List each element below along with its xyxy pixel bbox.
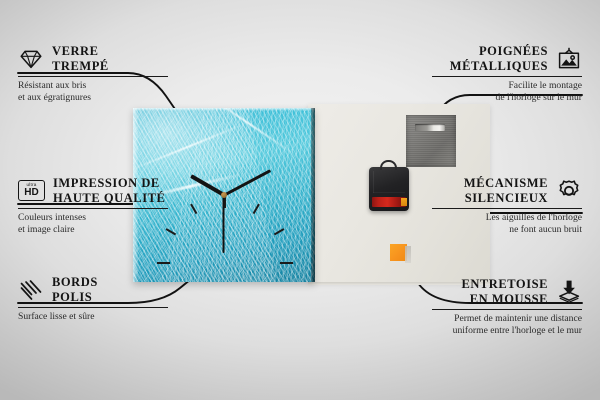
- feature-description: Résistant aux briset aux égratignures: [18, 80, 168, 103]
- feature-title: VERRETREMPÉ: [52, 44, 109, 73]
- feature-description: Surface lisse et sûre: [18, 311, 168, 322]
- feature-bords-polis: BORDSPOLIS Surface lisse et sûre: [18, 275, 168, 323]
- movement-housing-texture: [373, 171, 405, 193]
- title-line-1: POIGNÉES: [479, 44, 548, 58]
- desc-line-1: Couleurs intenses: [18, 212, 86, 223]
- title-line-2: TREMPÉ: [52, 59, 109, 73]
- desc-line-2: uniforme entre l'horloge et le mur: [453, 325, 582, 336]
- feature-mecanisme-silencieux: MÉCANISMESILENCIEUX Les aiguilles de l'h…: [432, 176, 582, 235]
- desc-line-2: et aux égratignures: [18, 92, 91, 103]
- feature-title: POIGNÉESMÉTALLIQUES: [450, 44, 548, 73]
- title-line-2: HAUTE QUALITÉ: [53, 191, 165, 205]
- desc-line-1: Les aiguilles de l'horloge: [486, 212, 582, 223]
- divider: [18, 208, 168, 209]
- feature-verre-trempe: VERRETREMPÉ Résistant aux briset aux égr…: [18, 44, 168, 103]
- infographic-canvas: VERRETREMPÉ Résistant aux briset aux égr…: [0, 0, 600, 400]
- feature-description: Permet de maintenir une distanceuniforme…: [432, 313, 582, 336]
- desc-line-2: et image claire: [18, 224, 74, 235]
- desc-line-2: ne font aucun bruit: [509, 224, 582, 235]
- feature-poignees-metalliques: POIGNÉESMÉTALLIQUES Facilite le montaged…: [432, 44, 582, 103]
- desc-line-1: Résistant aux bris: [18, 80, 86, 91]
- title-line-2: EN MOUSSE: [470, 292, 548, 306]
- title-line-2: MÉTALLIQUES: [450, 59, 548, 73]
- feature-title: MÉCANISMESILENCIEUX: [464, 176, 548, 205]
- divider: [432, 309, 582, 310]
- feature-description: Couleurs intenseset image claire: [18, 212, 168, 235]
- desc-line-1: Permet de maintenir une distance: [454, 313, 582, 324]
- divider: [432, 76, 582, 77]
- title-line-1: BORDS: [52, 275, 98, 289]
- metallic-hanger-plate: [406, 115, 456, 167]
- title-line-2: SILENCIEUX: [465, 191, 548, 205]
- ultra-hd-badge-icon: ultra HD: [18, 180, 45, 201]
- clock-center-hub: [221, 192, 227, 198]
- title-line-1: IMPRESSION DE: [53, 176, 160, 190]
- diamond-icon: [18, 46, 44, 72]
- divider: [18, 307, 168, 308]
- clock-hour-hand: [190, 174, 225, 196]
- desc-line-2: de l'horloge sur le mur: [496, 92, 582, 103]
- hanging-frame-icon: [556, 46, 582, 72]
- title-line-2: POLIS: [52, 290, 92, 304]
- battery: [372, 197, 406, 207]
- badge-main-text: HD: [24, 188, 38, 198]
- feature-entretoise-en-mousse: ENTRETOISEEN MOUSSE Permet de maintenir …: [432, 277, 582, 336]
- feature-title: IMPRESSION DEHAUTE QUALITÉ: [53, 176, 165, 205]
- title-line-1: MÉCANISME: [464, 176, 548, 190]
- hanger-slot: [415, 124, 445, 131]
- divider: [432, 208, 582, 209]
- title-line-1: VERRE: [52, 44, 99, 58]
- foam-spacer-arrow-icon: [556, 279, 582, 305]
- divider: [18, 76, 168, 77]
- quartz-clock-movement: [369, 167, 409, 211]
- feature-impression-haute-qualite: ultra HD IMPRESSION DEHAUTE QUALITÉ Coul…: [18, 176, 168, 235]
- feature-title: ENTRETOISEEN MOUSSE: [461, 277, 548, 306]
- title-line-1: ENTRETOISE: [461, 277, 548, 291]
- desc-line-1: Facilite le montage: [508, 80, 582, 91]
- feature-description: Les aiguilles de l'horlogene font aucun …: [432, 212, 582, 235]
- gear-icon: [556, 178, 582, 204]
- clock-minute-hand: [223, 169, 270, 196]
- movement-hanging-loop: [380, 160, 397, 170]
- feature-title: BORDSPOLIS: [52, 275, 98, 304]
- feature-description: Facilite le montagede l'horloge sur le m…: [432, 80, 582, 103]
- orange-foam-spacer: [390, 244, 407, 261]
- polished-edges-icon: [18, 277, 44, 303]
- desc-line-1: Surface lisse et sûre: [18, 311, 94, 322]
